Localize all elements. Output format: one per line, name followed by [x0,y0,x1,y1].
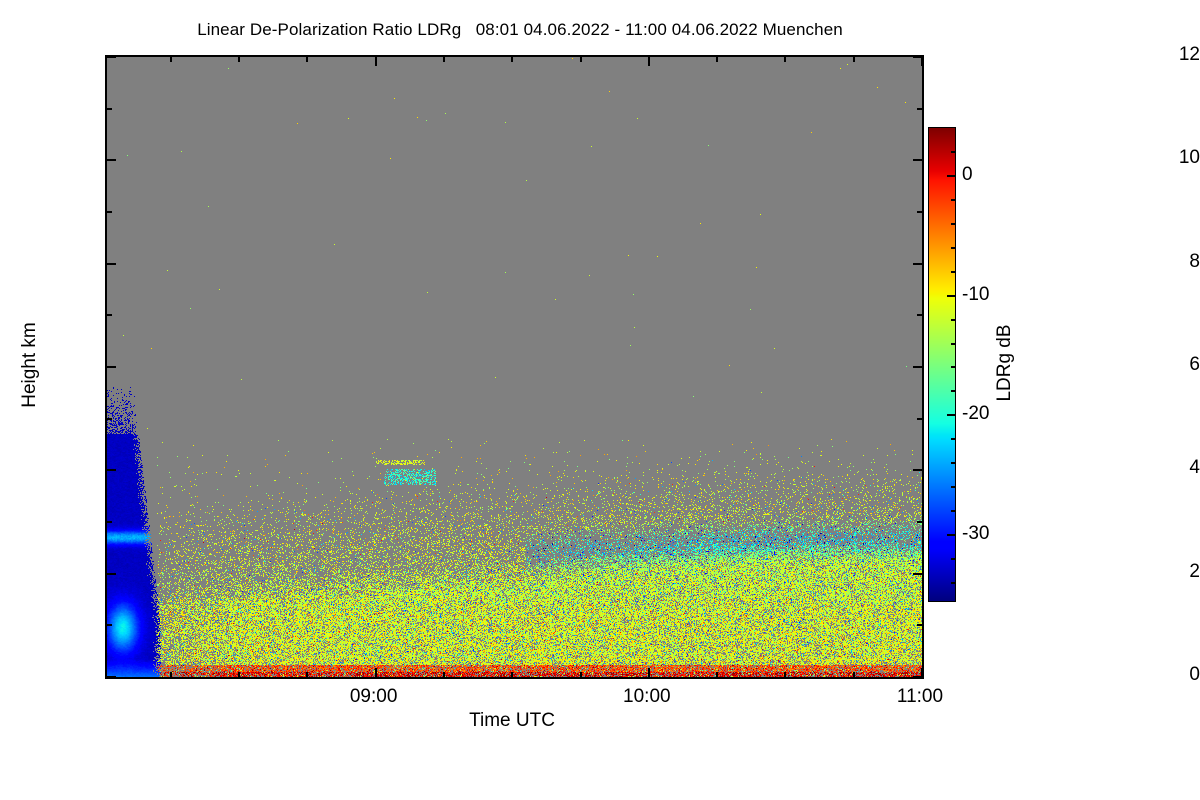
y-tick-label: 2 [1105,561,1200,583]
y-tick-label: 12 [1105,44,1200,66]
x-tick-major [921,57,923,66]
colorbar-tick-major [947,175,955,177]
y-tick-label: 6 [1105,354,1200,376]
x-tick-minor [784,57,786,62]
x-tick-major [648,668,650,677]
colorbar-tick-label: 0 [962,164,973,186]
colorbar-tick-minor [951,438,955,440]
x-tick-major [375,668,377,677]
y-tick-major [107,56,116,58]
y-tick-major [913,159,922,161]
colorbar-tick-minor [951,390,955,392]
colorbar-tick-minor [951,558,955,560]
x-tick-minor [511,57,513,62]
colorbar-tick-minor [951,319,955,321]
colorbar-tick-minor [951,366,955,368]
y-tick-minor [107,108,112,110]
colorbar-tick-label: -30 [962,523,989,545]
heatmap-image [107,57,922,677]
x-tick-minor [306,57,308,62]
x-tick-label: 10:00 [623,686,671,708]
y-tick-label: 8 [1105,251,1200,273]
y-tick-minor [917,314,922,316]
x-tick-minor [238,672,240,677]
colorbar-tick-minor [951,510,955,512]
y-tick-label: 10 [1105,147,1200,169]
x-tick-minor [443,672,445,677]
colorbar-tick-minor [951,343,955,345]
y-axis-title: Height km [19,322,41,408]
x-tick-label: 11:00 [897,686,943,708]
plot-area[interactable] [105,55,924,679]
x-axis-title: Time UTC [469,710,555,732]
y-tick-major [913,573,922,575]
y-tick-minor [107,624,112,626]
colorbar-tick-major [947,534,955,536]
colorbar-title: LDRg dB [994,324,1016,401]
colorbar-tick-label: -10 [962,284,989,306]
colorbar-tick-minor [951,199,955,201]
x-tick-minor [853,57,855,62]
x-tick-minor [170,672,172,677]
y-tick-minor [917,624,922,626]
x-tick-major [375,57,377,66]
x-tick-minor [443,57,445,62]
y-tick-minor [107,418,112,420]
y-tick-minor [917,418,922,420]
colorbar-tick-minor [951,462,955,464]
x-tick-minor [716,57,718,62]
x-tick-minor [238,57,240,62]
y-tick-major [913,366,922,368]
colorbar-tick-major [947,295,955,297]
y-tick-major [107,159,116,161]
y-tick-major [107,676,116,678]
x-tick-major [921,668,923,677]
y-tick-label: 0 [1105,664,1200,686]
page-title: Linear De-Polarization Ratio LDRg 08:01 … [0,20,1040,40]
y-tick-major [107,469,116,471]
colorbar-tick-minor [951,223,955,225]
y-tick-major [107,263,116,265]
colorbar-tick-minor [951,247,955,249]
colorbar[interactable] [928,127,956,602]
colorbar-tick-minor [951,151,955,153]
y-tick-label: 4 [1105,457,1200,479]
x-tick-minor [716,672,718,677]
x-tick-minor [306,672,308,677]
y-tick-minor [107,211,112,213]
y-tick-major [913,263,922,265]
y-tick-major [913,469,922,471]
x-tick-minor [580,672,582,677]
x-tick-minor [784,672,786,677]
colorbar-tick-major [947,414,955,416]
y-tick-major [107,573,116,575]
y-tick-minor [107,521,112,523]
x-tick-label: 09:00 [350,686,398,708]
colorbar-tick-minor [951,271,955,273]
y-tick-minor [917,521,922,523]
colorbar-tick-label: -20 [962,403,989,425]
y-tick-major [107,366,116,368]
x-tick-minor [170,57,172,62]
y-tick-minor [917,108,922,110]
colorbar-tick-minor [951,582,955,584]
x-tick-major [648,57,650,66]
y-tick-minor [107,314,112,316]
x-tick-minor [580,57,582,62]
x-tick-minor [853,672,855,677]
x-tick-minor [511,672,513,677]
colorbar-tick-minor [951,486,955,488]
y-tick-minor [917,211,922,213]
